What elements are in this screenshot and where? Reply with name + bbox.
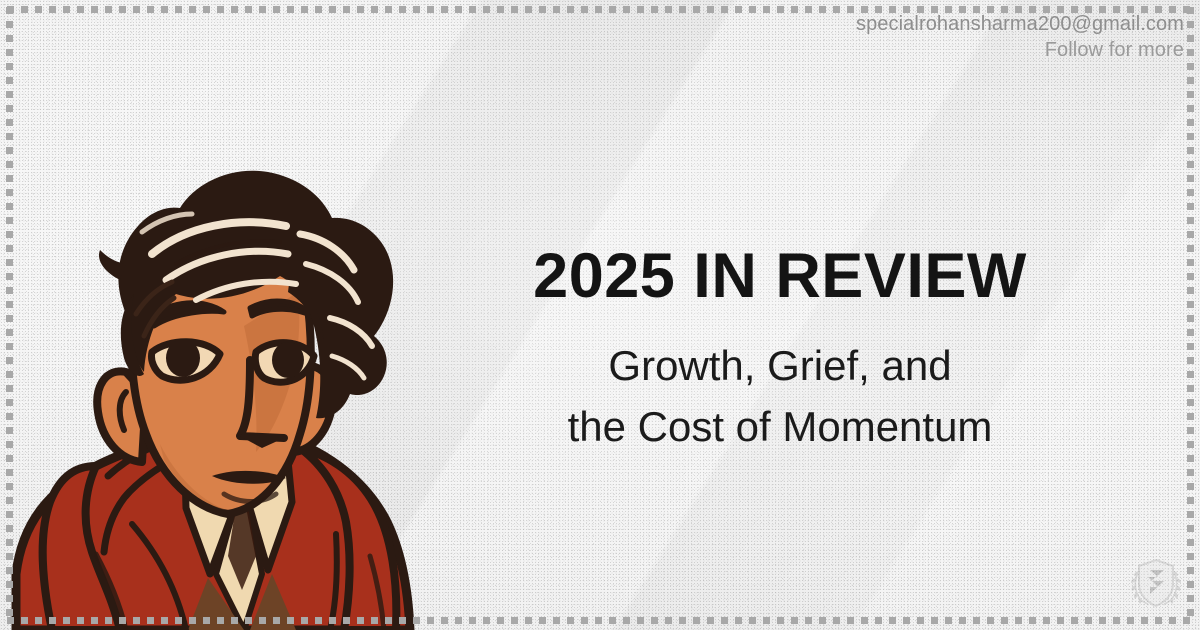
poster-canvas: specialrohansharma200@gmail.com Follow f… <box>0 0 1200 630</box>
follow-prompt: Follow for more <box>856 38 1184 64</box>
email-address: specialrohansharma200@gmail.com <box>856 12 1184 38</box>
headline-block: 2025 IN REVIEW Growth, Grief, and the Co… <box>440 245 1120 458</box>
page-subtitle: Growth, Grief, and the Cost of Momentum <box>440 336 1120 458</box>
page-title: 2025 IN REVIEW <box>440 245 1120 308</box>
contact-handle: specialrohansharma200@gmail.com Follow f… <box>856 12 1184 63</box>
character-illustration <box>0 104 430 630</box>
shield-laurel-monogram-logo-icon <box>1128 553 1184 611</box>
page-subtitle-line-1: Growth, Grief, and <box>440 336 1120 397</box>
page-subtitle-line-2: the Cost of Momentum <box>440 397 1120 458</box>
